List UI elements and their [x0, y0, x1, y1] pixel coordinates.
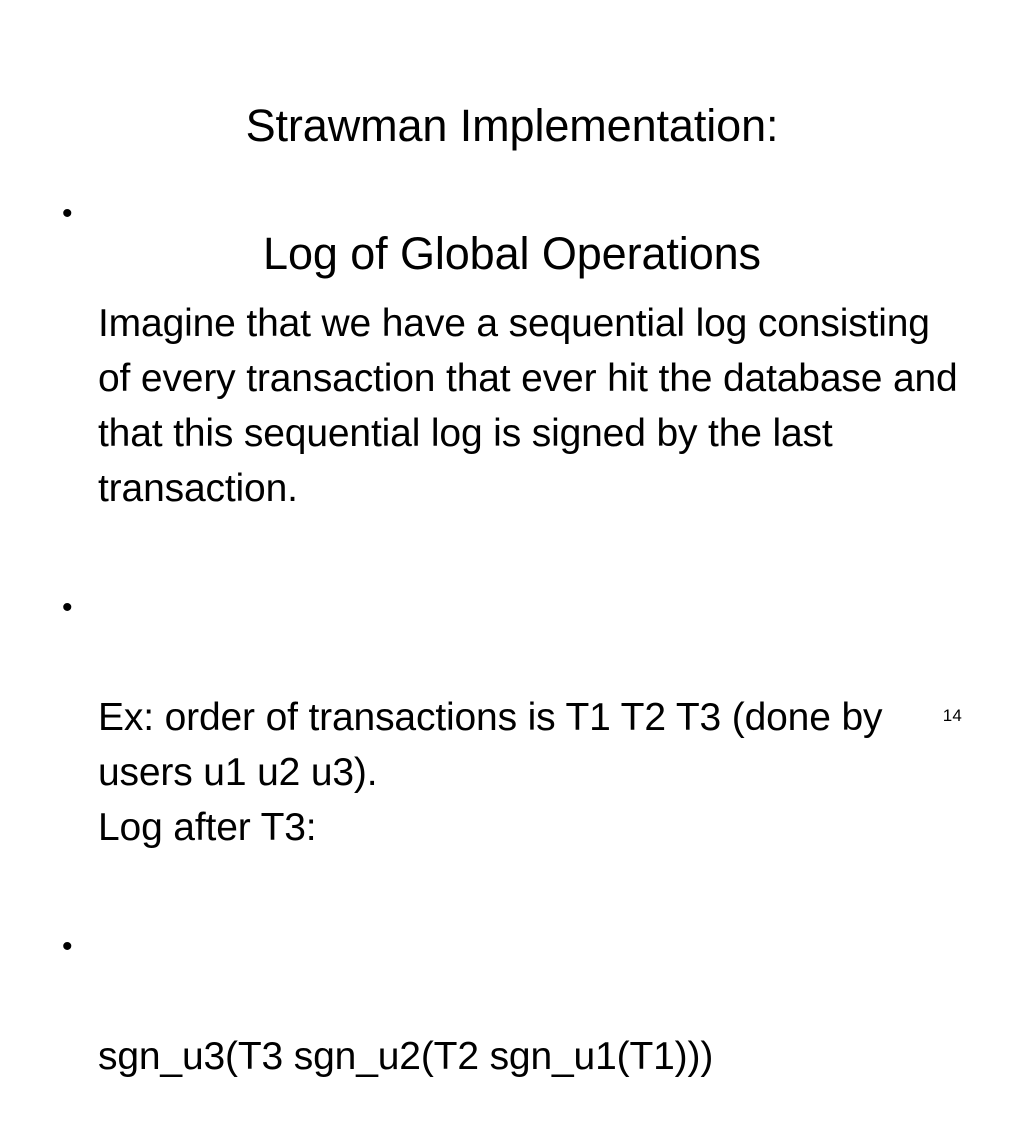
- bullet-list: • Imagine that we have a sequential log …: [60, 186, 972, 1139]
- list-item-text: Ex: order of transactions is T1 T2 T3 (d…: [98, 690, 972, 855]
- list-item-text: Imagine that we have a sequential log co…: [98, 296, 972, 516]
- list-item: • sgn_u3(T3 sgn_u2(T2 sgn_u1(T1))): [60, 919, 972, 1139]
- slide-canvas: Strawman Implementation: Log of Global O…: [0, 0, 1024, 768]
- bullet-dot-icon: •: [62, 186, 86, 241]
- bullet-dot-icon: •: [62, 919, 86, 974]
- list-item: • Ex: order of transactions is T1 T2 T3 …: [60, 580, 972, 910]
- list-item: • Imagine that we have a sequential log …: [60, 186, 972, 571]
- page-title-line-1: Strawman Implementation:: [0, 94, 1024, 158]
- list-item-text: sgn_u3(T3 sgn_u2(T2 sgn_u1(T1))): [98, 1029, 972, 1084]
- page-number: 14: [943, 706, 962, 726]
- bullet-dot-icon: •: [62, 580, 86, 635]
